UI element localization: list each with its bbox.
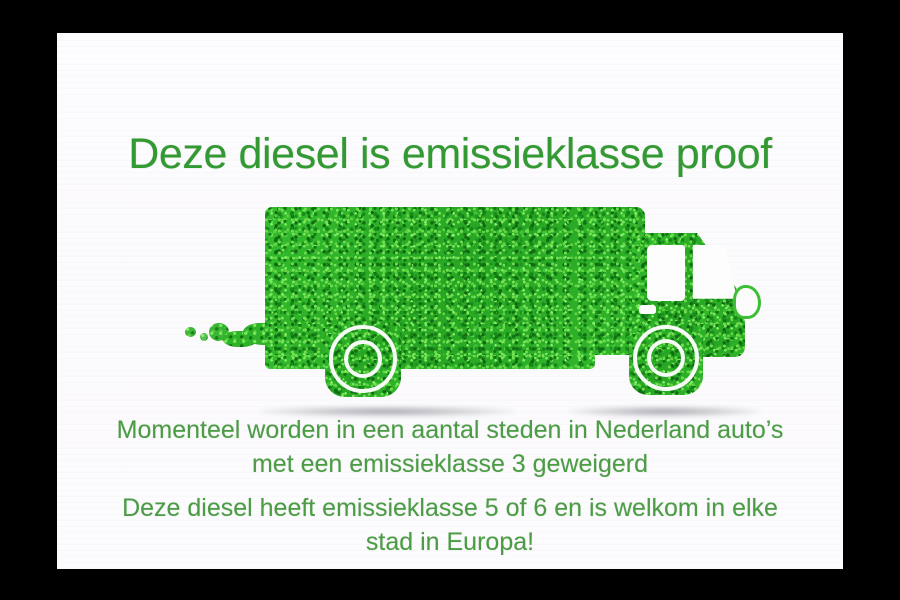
van-wing-mirror xyxy=(733,285,761,319)
poster-canvas: Deze diesel is emissieklasse proof xyxy=(57,33,843,569)
body-line: Momenteel worden in een aantal steden in… xyxy=(57,414,843,448)
exhaust-particle xyxy=(185,327,196,337)
wheel-outer-ring xyxy=(633,325,699,391)
van-front-wheel xyxy=(629,321,703,395)
van-side-window xyxy=(647,245,685,301)
wheel-hub xyxy=(344,340,383,379)
body-line: Deze diesel heeft emissieklasse 5 of 6 e… xyxy=(57,492,843,526)
van-door-handle xyxy=(639,305,656,314)
exhaust-particle xyxy=(200,333,208,341)
poster-frame: Deze diesel is emissieklasse proof xyxy=(0,0,900,600)
van-front-bumper xyxy=(697,311,745,357)
body-line: stad in Europa! xyxy=(57,526,843,560)
restriction-notice-paragraph: Momenteel worden in een aantal steden in… xyxy=(57,414,843,481)
page-title: Deze diesel is emissieklasse proof xyxy=(57,133,843,176)
van-cargo-box xyxy=(265,207,645,355)
van-rear-wheel xyxy=(325,321,401,397)
van-windshield xyxy=(691,245,737,301)
wheel-hub xyxy=(647,339,685,377)
van-illustration xyxy=(177,193,737,433)
wheel-outer-ring xyxy=(329,325,396,392)
body-line: met een emissieklasse 3 geweigerd xyxy=(57,448,843,482)
compliance-notice-paragraph: Deze diesel heeft emissieklasse 5 of 6 e… xyxy=(57,492,843,559)
